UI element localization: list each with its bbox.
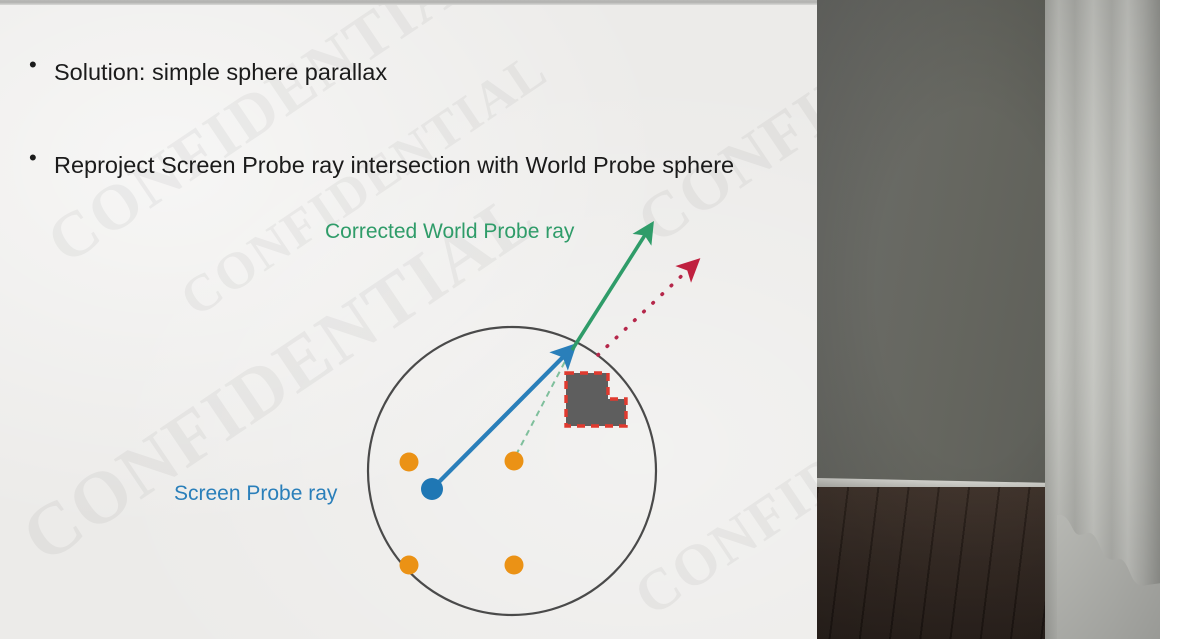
slide-bullet-text: Solution: simple sphere parallax [54, 49, 387, 96]
watermark-text: CONFIDENTIAL [622, 308, 817, 629]
world-probe-dot [400, 453, 419, 472]
curtain-hem-silhouette [1027, 409, 1160, 639]
webcam-video-panel[interactable] [817, 0, 1160, 639]
occluder-shape [566, 373, 626, 426]
bullet-marker-icon: • [22, 49, 54, 80]
slide-bullet-text: Reproject Screen Probe ray intersection … [54, 142, 734, 189]
screen-probe-ray-line [432, 346, 574, 489]
bullet-marker-icon: • [22, 142, 54, 173]
slide-bullet-item: • Reproject Screen Probe ray intersectio… [22, 142, 782, 189]
screen-recording-frame: CONFIDENTIAL CONFIDENTIAL CONFIDENTIAL C… [0, 0, 1182, 639]
slide-bullet-item: • Solution: simple sphere parallax [22, 49, 782, 96]
screen-probe-ray-label: Screen Probe ray [174, 482, 337, 506]
world-probe-dot [400, 556, 419, 575]
world-probe-offset-dashed-line [516, 350, 571, 455]
room-wall [817, 0, 1054, 485]
presentation-slide: CONFIDENTIAL CONFIDENTIAL CONFIDENTIAL C… [0, 5, 817, 639]
world-probe-sphere-outline [368, 327, 656, 615]
right-white-margin [1160, 0, 1182, 639]
slide-bullet-list: • Solution: simple sphere parallax • Rep… [22, 49, 782, 235]
screen-probe-origin-dot [421, 478, 443, 500]
uncorrected-ray-dotted-line [598, 266, 692, 355]
world-probe-dot [505, 452, 524, 471]
corrected-world-probe-ray-label: Corrected World Probe ray [325, 220, 574, 244]
world-probe-dot [505, 556, 524, 575]
corrected-world-probe-ray-line [572, 224, 652, 350]
